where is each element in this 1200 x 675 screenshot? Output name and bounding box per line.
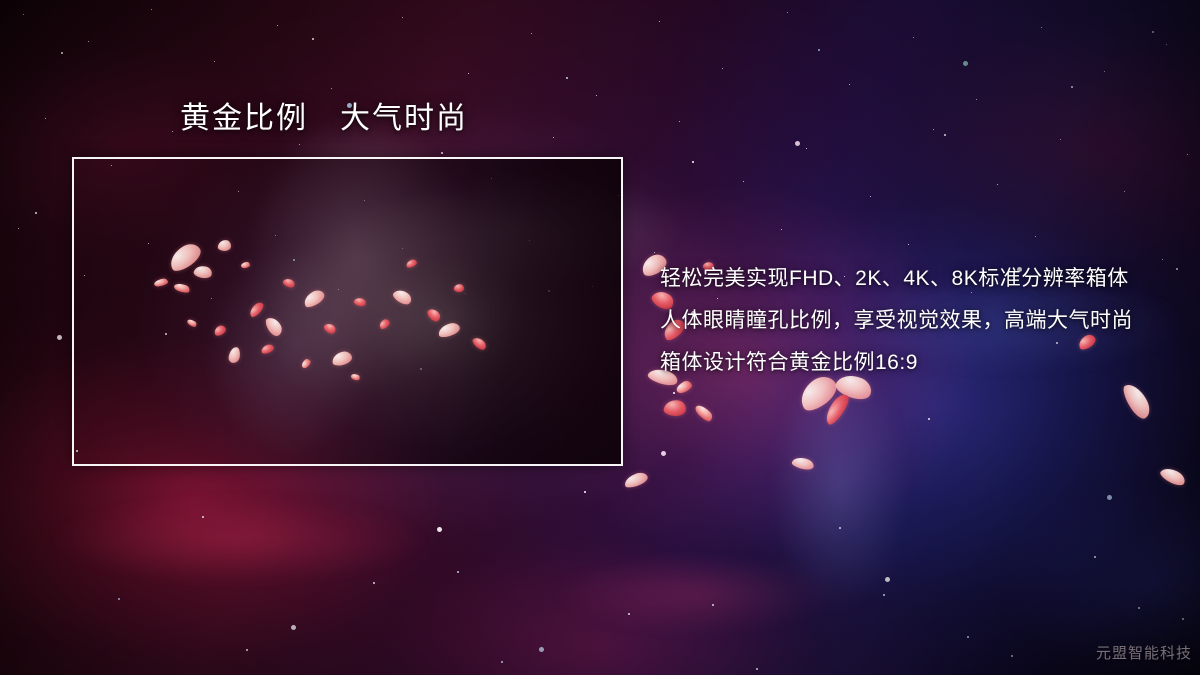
brand-watermark: 元盟智能科技 bbox=[1096, 642, 1192, 663]
preview-shading bbox=[74, 159, 621, 464]
body-copy: 轻松完美实现FHD、2K、4K、8K标准分辨率箱体 人体眼睛瞳孔比例，享受视觉效… bbox=[660, 258, 1180, 384]
preview-inner bbox=[74, 159, 621, 464]
body-line-3: 箱体设计符合黄金比例16:9 bbox=[660, 342, 1180, 384]
page-title: 黄金比例 大气时尚 bbox=[180, 100, 468, 138]
presentation-slide: 黄金比例 大气时尚 轻松完美实现FHD、2K、4K、8K标准分辨率箱体 人体眼睛… bbox=[0, 0, 1200, 675]
body-line-2: 人体眼睛瞳孔比例，享受视觉效果，高端大气时尚 bbox=[660, 300, 1180, 342]
body-line-1: 轻松完美实现FHD、2K、4K、8K标准分辨率箱体 bbox=[660, 258, 1180, 300]
led-cabinet-preview-frame[interactable] bbox=[72, 157, 623, 466]
